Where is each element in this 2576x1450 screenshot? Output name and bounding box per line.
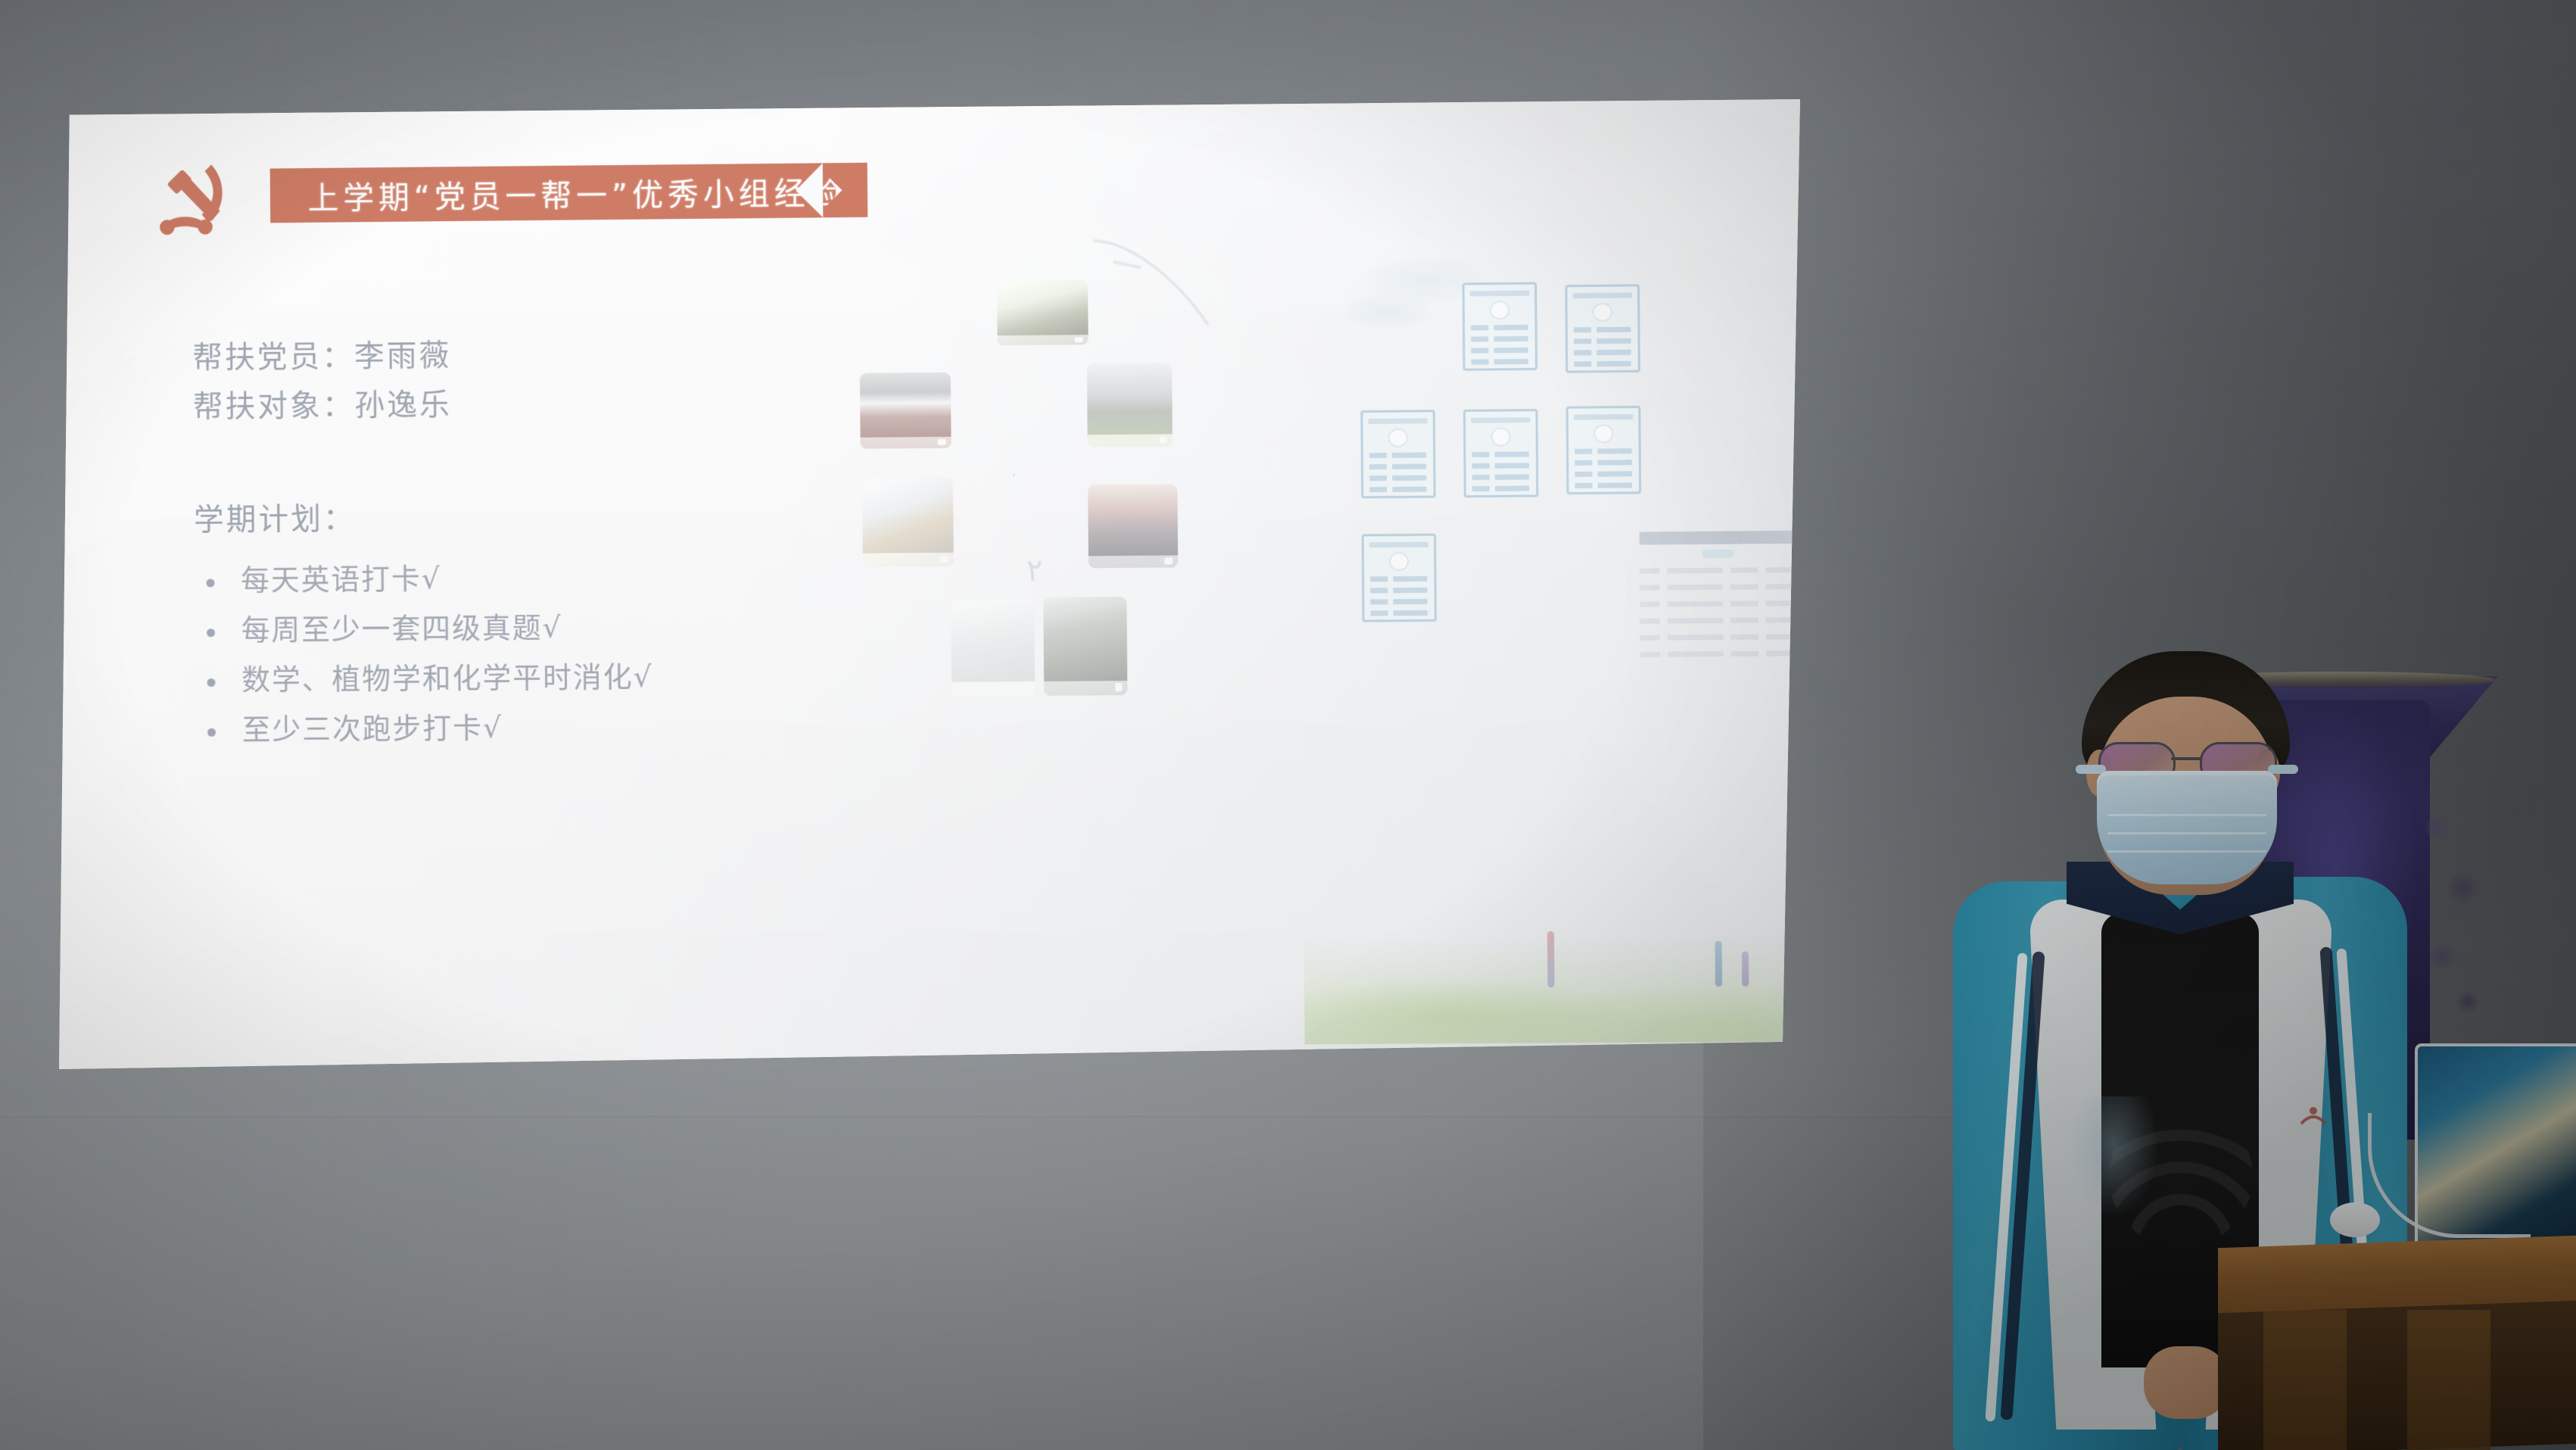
record-card (1462, 282, 1537, 371)
record-card (1362, 534, 1437, 622)
faint-mark: · (1011, 463, 1017, 486)
jacket-print (2068, 1096, 2159, 1218)
wooden-podium (2218, 1242, 2576, 1450)
thumbnail-sunset (1088, 484, 1178, 568)
white-mouse (2330, 1202, 2380, 1237)
surgical-mask (2097, 771, 2277, 884)
faded-lawn-photo (1304, 878, 1853, 1044)
cloud-wash (1337, 291, 1436, 331)
faded-score-table (1640, 531, 1805, 665)
speaker-hand (2144, 1346, 2229, 1419)
lawn-figure (1742, 951, 1749, 986)
record-card (1360, 410, 1435, 498)
faint-mark: ٢ (1026, 553, 1043, 588)
thumbnail-campus (1087, 363, 1173, 447)
screenshot-root: 上学期“党员一帮一”优秀小组经验分享 帮扶党员：李雨薇 帮扶对象：孙逸乐 学期计… (0, 0, 2576, 1450)
slide-content: 上学期“党员一帮一”优秀小组经验分享 帮扶党员：李雨薇 帮扶对象：孙逸乐 学期计… (59, 83, 1808, 1074)
decorative-arc (1086, 233, 1231, 341)
podium-leg (2263, 1310, 2347, 1450)
projected-slide-screen: 上学期“党员一帮一”优秀小组经验分享 帮扶党员：李雨薇 帮扶对象：孙逸乐 学期计… (59, 92, 1800, 1069)
faded-app-record-cards (1344, 251, 1852, 938)
record-card (1565, 284, 1640, 373)
thumbnail-night (1043, 597, 1127, 696)
record-card (1463, 409, 1538, 497)
jacket-logo-icon (2295, 1104, 2331, 1130)
thumbnail-bench (862, 477, 954, 567)
podium-top-edge (2218, 1236, 2576, 1314)
glasses-bridge (2171, 757, 2201, 760)
thumbnail-plant (997, 280, 1089, 345)
speaker-head (2082, 651, 2290, 901)
thumbnail-blank (951, 599, 1035, 697)
record-card (1566, 406, 1642, 494)
lawn-figure (1547, 931, 1555, 987)
mask-strap-right (2268, 765, 2298, 774)
photo-thumbnail-collage: · ٢ (858, 233, 1289, 994)
podium-leg (2407, 1310, 2490, 1450)
slide-title-banner: 上学期“党员一帮一”优秀小组经验分享 (270, 163, 836, 223)
lawn-figure (1715, 941, 1723, 987)
thumbnail-track (860, 373, 952, 449)
cpc-hammer-sickle-emblem (154, 156, 237, 240)
